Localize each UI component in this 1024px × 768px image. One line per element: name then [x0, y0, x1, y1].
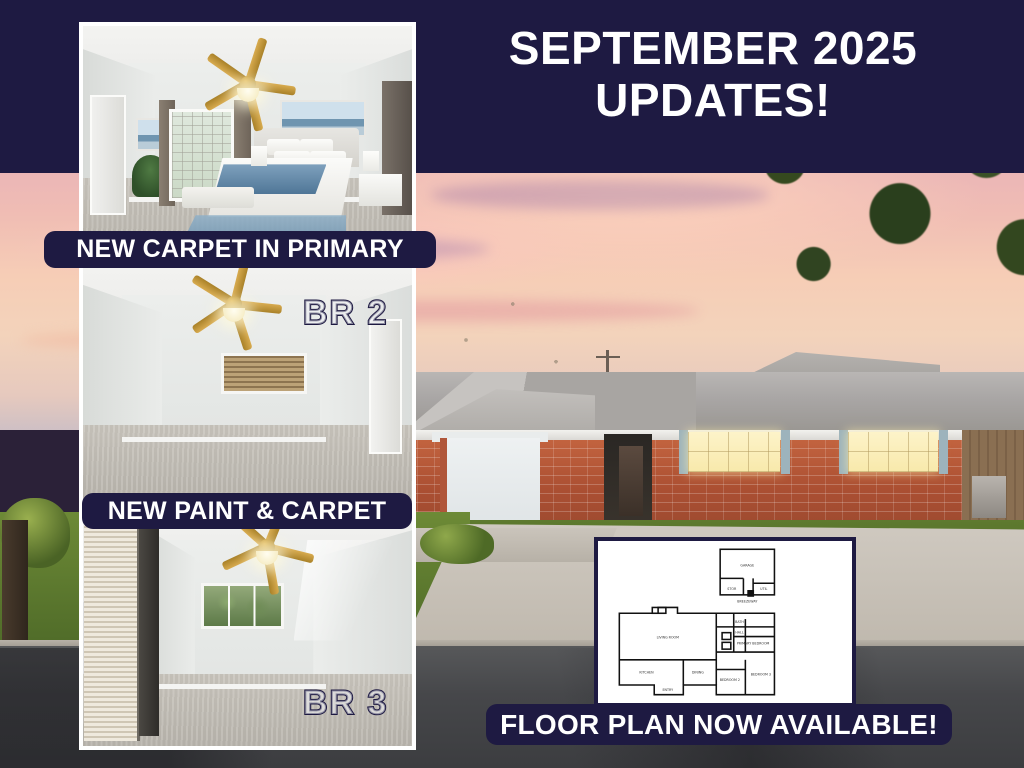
page-title: SEPTEMBER 2025 UPDATES!	[418, 22, 1008, 127]
closet-door-jamb	[139, 516, 159, 736]
ac-condenser	[972, 476, 1006, 518]
window-shutter	[939, 430, 948, 474]
svg-text:PRIMARY BEDROOM: PRIMARY BEDROOM	[737, 641, 770, 645]
window-shutter	[781, 430, 790, 474]
louvered-bifold-closet-door	[84, 511, 140, 741]
marketing-flyer: SEPTEMBER 2025 UPDATES!	[0, 0, 1024, 768]
lit-window	[848, 432, 938, 472]
photo-primary-bedroom	[83, 26, 412, 257]
window-with-blinds	[221, 353, 307, 394]
svg-text:BEDROOM 3: BEDROOM 3	[751, 672, 771, 676]
svg-text:HALL: HALL	[735, 631, 744, 635]
table-lamp	[363, 151, 379, 171]
shrub	[420, 524, 494, 564]
bedroom-3-overlay-label: BR 3	[303, 684, 388, 723]
window-shutter	[839, 430, 848, 474]
photo-collage-column	[79, 22, 416, 750]
lit-window	[688, 432, 780, 472]
bedroom-2-overlay-label: BR 2	[303, 294, 388, 333]
svg-text:STOR: STOR	[727, 587, 737, 591]
nightstand	[359, 174, 402, 206]
svg-text:KITCHEN: KITCHEN	[639, 670, 654, 674]
svg-text:BREEZEWAY: BREEZEWAY	[737, 600, 758, 604]
window-shutter	[679, 430, 688, 474]
bench	[182, 187, 254, 208]
svg-text:GARAGE: GARAGE	[740, 564, 754, 568]
floor-plan-inset[interactable]: GARAGE STOR UTIL BREEZEWAY LIVING ROOM P…	[594, 537, 856, 707]
closet-door	[369, 319, 402, 454]
front-door	[619, 446, 643, 516]
badge-new-paint-carpet: NEW PAINT & CARPET	[82, 493, 412, 529]
svg-text:ENTRY: ENTRY	[662, 688, 674, 692]
svg-text:DINING: DINING	[692, 670, 704, 674]
badge-floor-plan: FLOOR PLAN NOW AVAILABLE!	[486, 704, 952, 745]
table-lamp	[251, 146, 267, 166]
svg-text:UTIL: UTIL	[760, 587, 767, 591]
svg-text:BEDROOM 2: BEDROOM 2	[720, 678, 740, 682]
interior-door	[90, 95, 126, 215]
svg-text:LIVING ROOM: LIVING ROOM	[657, 635, 679, 639]
badge-new-carpet-primary: NEW CARPET IN PRIMARY	[44, 231, 436, 268]
svg-text:BATH: BATH	[735, 620, 744, 624]
floor-plan-drawing: GARAGE STOR UTIL BREEZEWAY LIVING ROOM P…	[598, 541, 852, 703]
